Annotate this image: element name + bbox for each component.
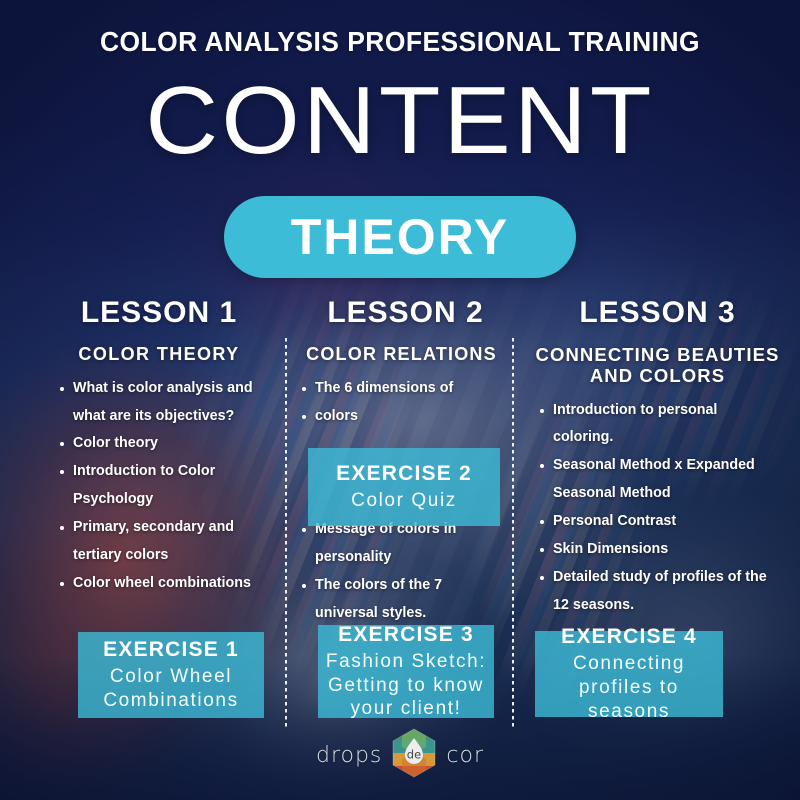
exercise-2-card: EXERCISE 2 Color Quiz bbox=[308, 448, 500, 526]
lesson-2-heading: COLOR RELATIONS bbox=[300, 344, 503, 365]
list-item: Detailed study of profiles of the 12 sea… bbox=[535, 564, 780, 620]
exercise-1-title: EXERCISE 1 bbox=[78, 637, 264, 662]
page-title: CONTENT bbox=[0, 72, 800, 170]
exercise-4-title: EXERCISE 4 bbox=[535, 624, 723, 649]
logo-word-left: drops bbox=[316, 743, 382, 768]
poster-canvas: COLOR ANALYSIS PROFESSIONAL TRAINING CON… bbox=[0, 0, 800, 800]
lesson-1-label: LESSON 1 bbox=[58, 296, 260, 330]
list-item: Introduction to personal coloring. bbox=[535, 397, 780, 453]
lesson-3-label: LESSON 3 bbox=[535, 296, 780, 330]
poster-kicker: COLOR ANALYSIS PROFESSIONAL TRAINING bbox=[16, 26, 784, 58]
lesson-3-bullet-list: Introduction to personal coloring. Seaso… bbox=[535, 397, 780, 620]
list-item: Introduction to Color Psychology bbox=[58, 458, 260, 514]
logo-word-right: cor bbox=[446, 743, 484, 768]
list-item: Seasonal Method x Expanded Seasonal Meth… bbox=[535, 452, 780, 508]
lesson-column-1: LESSON 1 COLOR THEORY What is color anal… bbox=[0, 296, 286, 598]
lesson-2-label: LESSON 2 bbox=[308, 296, 503, 330]
list-item: Personal Contrast bbox=[535, 508, 780, 536]
exercise-3-subtitle: Fashion Sketch: Getting to know your cli… bbox=[318, 650, 494, 721]
exercise-3-title: EXERCISE 3 bbox=[318, 622, 494, 647]
lesson-2-bullet-list-bottom: Message of colors in personality The col… bbox=[300, 516, 503, 628]
logo-mark-text: de bbox=[407, 748, 421, 762]
list-item: colors bbox=[300, 403, 503, 431]
list-item: The colors of the 7 universal styles. bbox=[300, 572, 503, 628]
exercise-3-card: EXERCISE 3 Fashion Sketch: Getting to kn… bbox=[318, 625, 494, 718]
lesson-3-heading: CONNECTING BEAUTIES AND COLORS bbox=[535, 344, 780, 387]
list-item: Color wheel combinations bbox=[58, 570, 260, 598]
list-item: Primary, secondary and tertiary colors bbox=[58, 514, 260, 570]
lesson-column-3: LESSON 3 CONNECTING BEAUTIES AND COLORS … bbox=[513, 296, 800, 620]
lesson-1-bullet-list: What is color analysis and what are its … bbox=[58, 375, 260, 598]
hexagon-droplet-icon: de bbox=[388, 727, 440, 784]
exercise-2-subtitle: Color Quiz bbox=[308, 489, 500, 513]
list-item: The 6 dimensions of bbox=[300, 375, 503, 403]
list-item: Skin Dimensions bbox=[535, 536, 780, 564]
lesson-2-bullet-list-top: The 6 dimensions of colors bbox=[300, 375, 503, 431]
list-item: What is color analysis and what are its … bbox=[58, 375, 260, 431]
exercise-2-title: EXERCISE 2 bbox=[308, 461, 500, 486]
brand-logo: drops bbox=[316, 727, 484, 784]
exercise-1-subtitle: Color Wheel Combinations bbox=[78, 665, 264, 713]
exercise-1-card: EXERCISE 1 Color Wheel Combinations bbox=[78, 632, 264, 718]
exercise-4-card: EXERCISE 4 Connecting profiles to season… bbox=[535, 631, 723, 717]
poster-content: COLOR ANALYSIS PROFESSIONAL TRAINING CON… bbox=[0, 0, 800, 800]
theory-pill-label: THEORY bbox=[291, 208, 510, 266]
list-item: Color theory bbox=[58, 430, 260, 458]
exercise-4-subtitle: Connecting profiles to seasons bbox=[535, 652, 723, 723]
lesson-1-heading: COLOR THEORY bbox=[58, 344, 260, 365]
theory-pill-badge: THEORY bbox=[224, 196, 576, 278]
